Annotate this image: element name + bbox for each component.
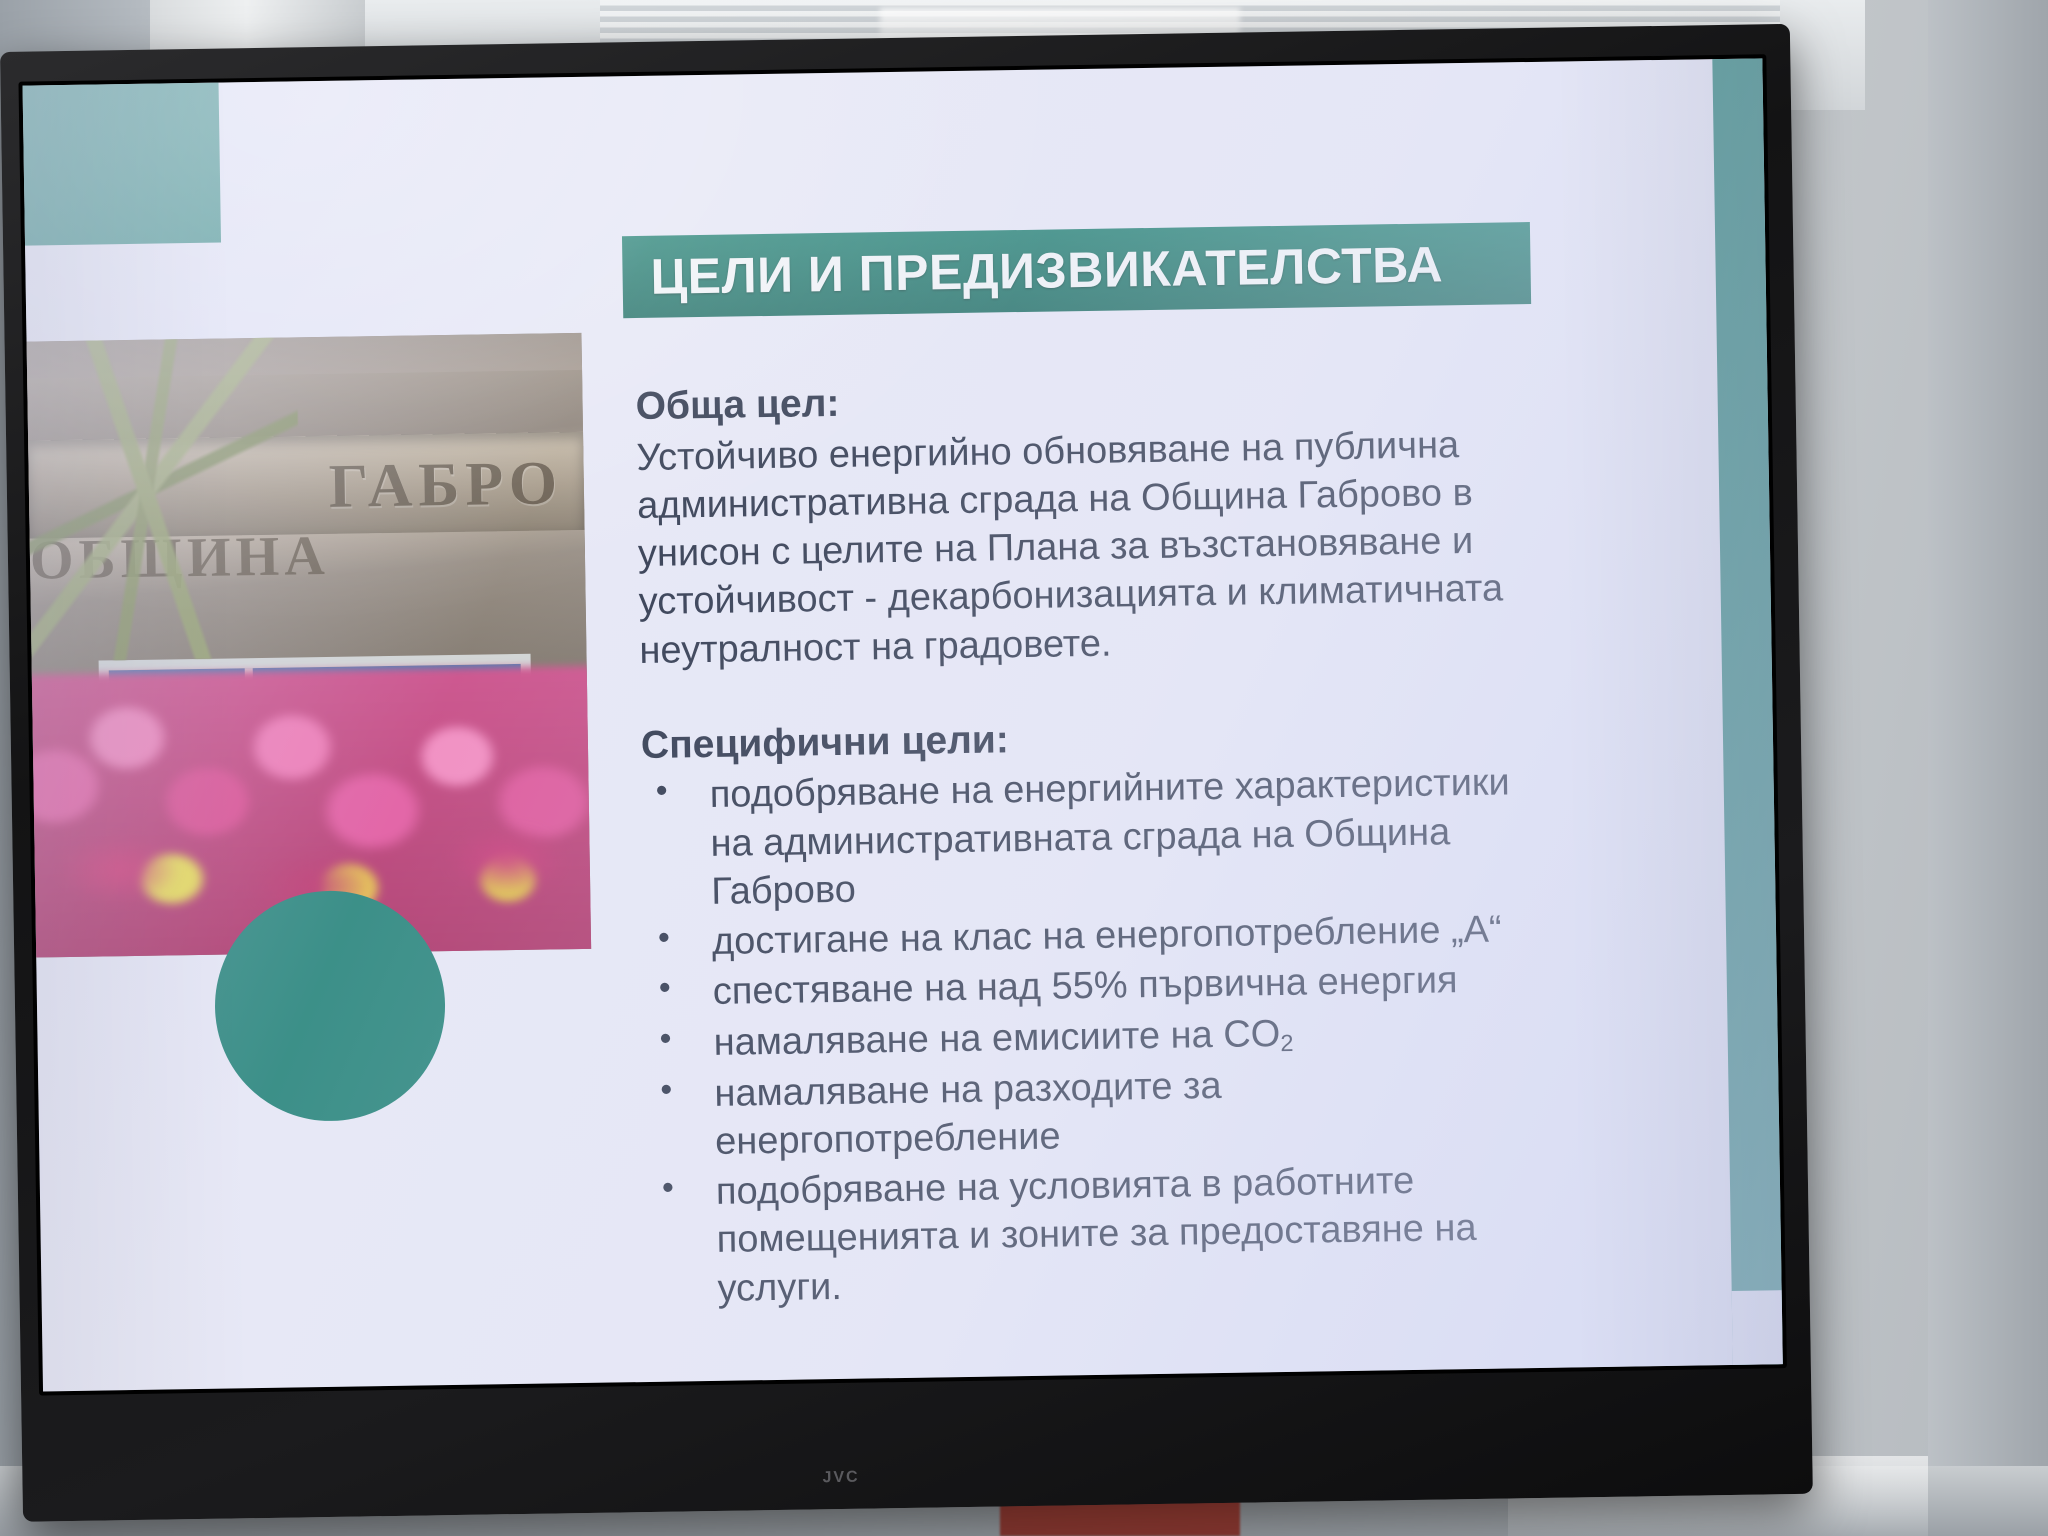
bullet-text: подобряване на условията в работните пом… (716, 1160, 1477, 1309)
general-goal-text: Устойчиво енергийно обновяване на публич… (636, 419, 1540, 674)
slide-right-band-cut (1732, 1290, 1783, 1365)
slide-title-band: ЦЕЛИ И ПРЕДИЗВИКАТЕЛСТВА (622, 222, 1531, 318)
specific-goals-list: подобряване на енергийните характеристик… (641, 758, 1549, 1314)
list-item: подобряване на условията в работните пом… (648, 1155, 1550, 1314)
bullet-text: подобряване на енергийните характеристик… (709, 762, 1510, 913)
slide-body: Обща цел: Устойчиво енергийно обновяване… (635, 368, 1550, 1316)
bullet-text: достигане на клас на енергопотребление „… (712, 909, 1502, 963)
building-photo: ГАБРО ОБЩИНА (27, 333, 592, 958)
room-scene: JVC ЦЕЛИ И ПРЕДИЗВИКАТЕЛСТВА ГАБРО ОБЩИН… (0, 0, 2048, 1536)
list-item: подобряване на енергийните характеристик… (641, 758, 1543, 917)
co2-subscript: 2 (1280, 1030, 1294, 1056)
bullet-text: намаляване на емисиите на CO (713, 1013, 1280, 1064)
bullet-text: спестяване на над 55% първична енергия (713, 960, 1458, 1014)
list-item: намаляване на разходите за енергопотребл… (646, 1056, 1547, 1167)
slide-left-accent-band (23, 83, 221, 246)
wall-right (1928, 0, 2048, 1536)
teal-circle-decoration (213, 889, 447, 1123)
slide-title: ЦЕЛИ И ПРЕДИЗВИКАТЕЛСТВА (650, 235, 1443, 305)
television: JVC ЦЕЛИ И ПРЕДИЗВИКАТЕЛСТВА ГАБРО ОБЩИН… (0, 24, 1813, 1522)
tv-brand-label: JVC (822, 1468, 892, 1491)
bullet-text: намаляване на разходите за енергопотребл… (714, 1065, 1222, 1163)
presentation-slide: ЦЕЛИ И ПРЕДИЗВИКАТЕЛСТВА ГАБРО ОБЩИНА Об… (23, 58, 1783, 1391)
photo-palm-leaves (27, 333, 302, 662)
